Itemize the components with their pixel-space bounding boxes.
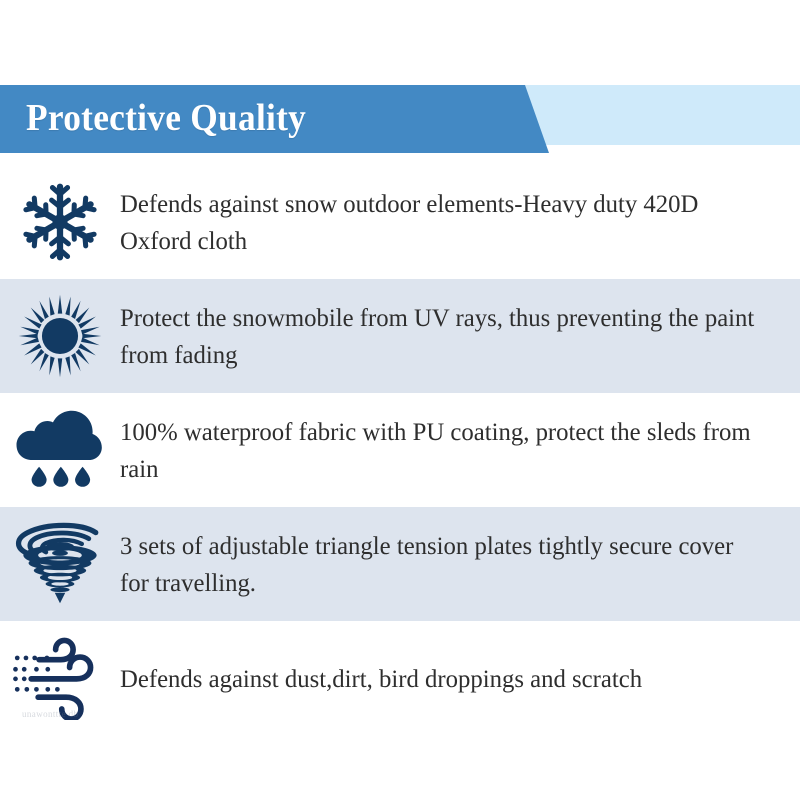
feature-row-dust: Defends against dust,dirt, bird dropping… [0,621,800,735]
feature-row-uv: Protect the snowmobile from UV rays, thu… [0,279,800,393]
feature-list: Defends against snow outdoor elements-He… [0,165,800,735]
feature-row-snow: Defends against snow outdoor elements-He… [0,165,800,279]
feature-text: Protect the snowmobile from UV rays, thu… [120,299,780,373]
feature-row-waterproof: 100% waterproof fabric with PU coating, … [0,393,800,507]
tornado-icon [0,507,120,621]
header-blue-banner: Protective Quality [0,85,560,153]
feature-text: 3 sets of adjustable triangle tension pl… [120,527,780,601]
feature-text: Defends against snow outdoor elements-He… [120,185,780,259]
snowflake-icon [0,165,120,279]
page-title: Protective Quality [26,93,306,143]
feature-text: 100% waterproof fabric with PU coating, … [120,413,780,487]
header-banner: Protective Quality [0,85,800,155]
sun-icon [0,279,120,393]
watermark-text: unawonttte db [22,709,132,723]
rain-cloud-icon [0,393,120,507]
feature-text: Defends against dust,dirt, bird dropping… [120,660,780,697]
feature-row-tension-plates: 3 sets of adjustable triangle tension pl… [0,507,800,621]
product-feature-infographic: Protective Quality [0,0,800,800]
